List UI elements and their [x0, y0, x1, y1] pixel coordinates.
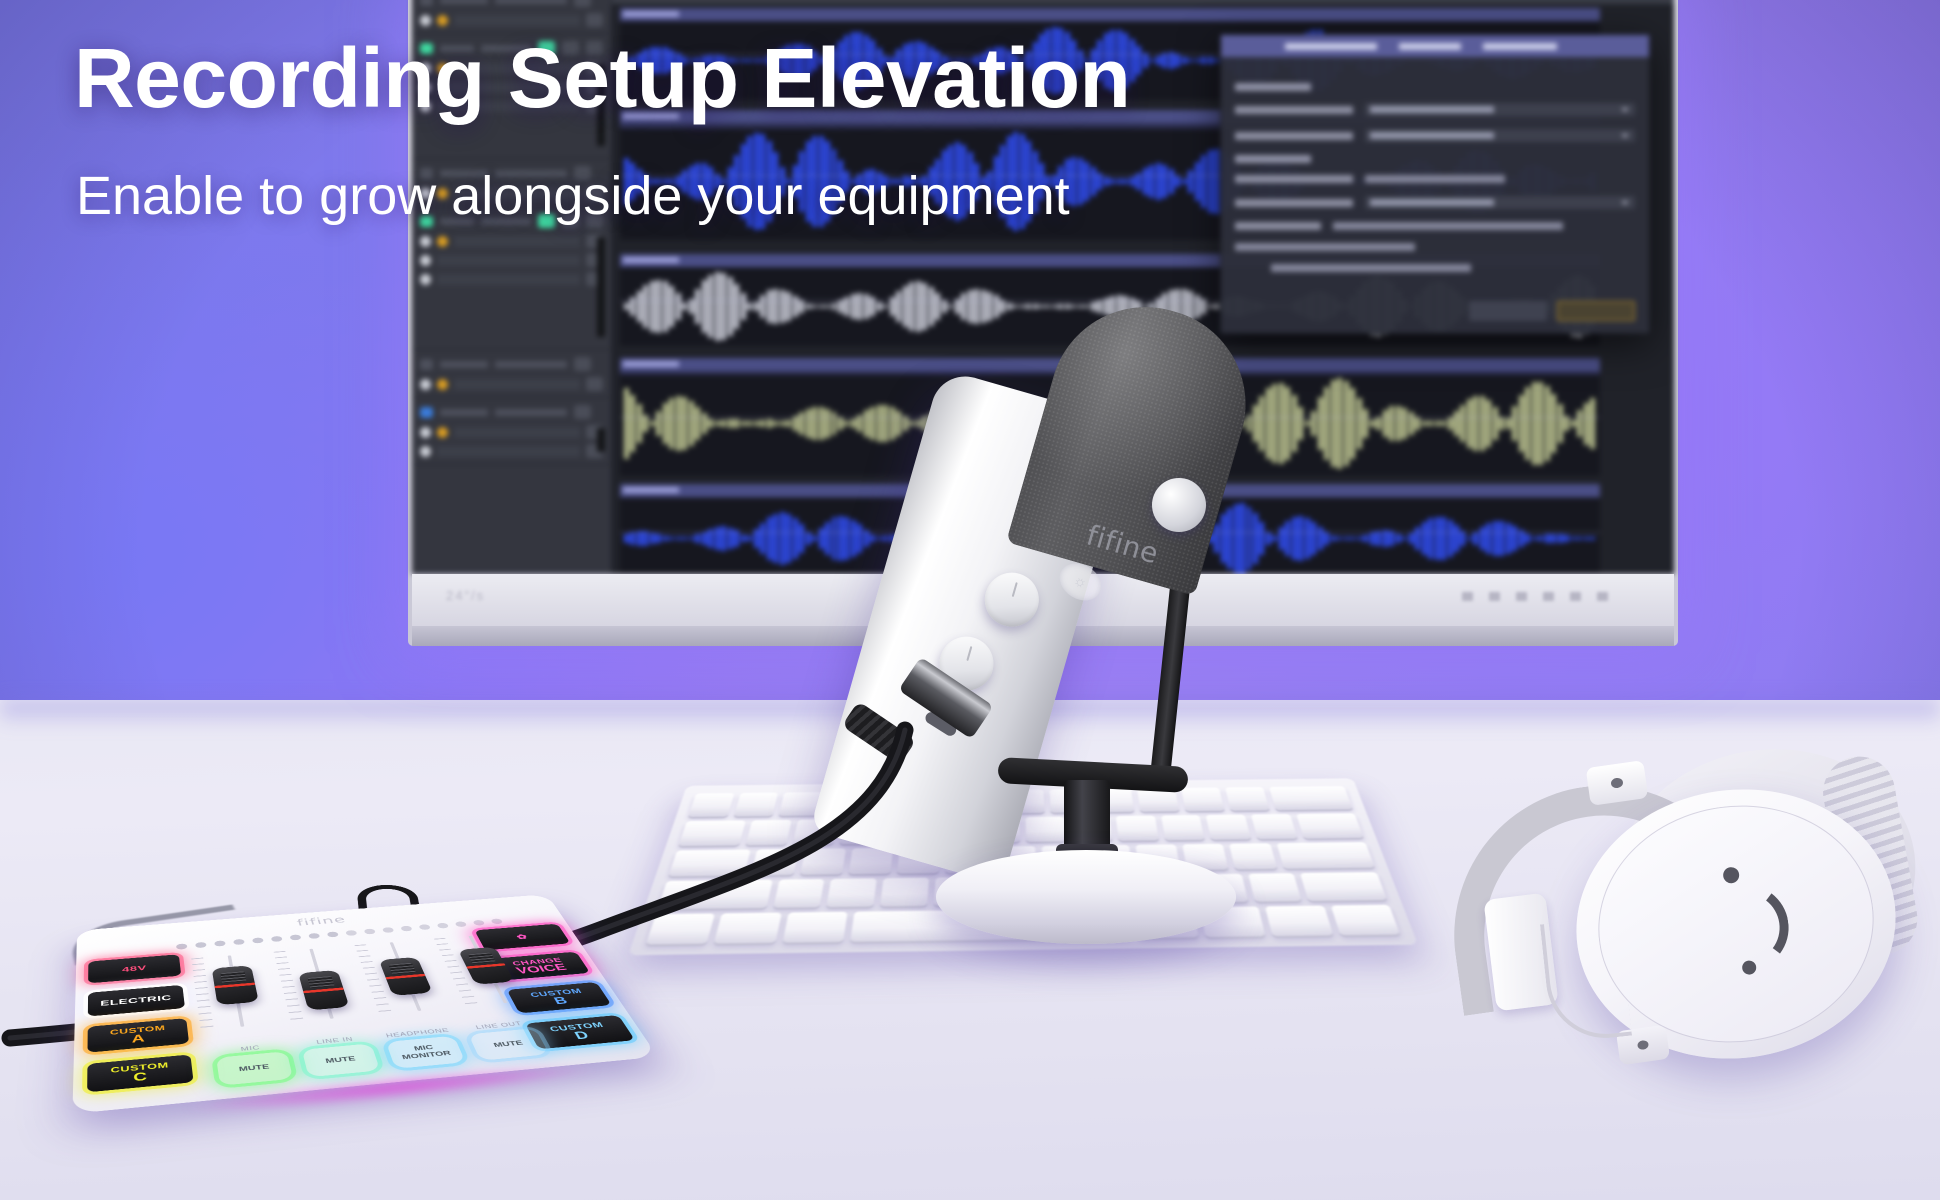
- keyboard-key[interactable]: [751, 849, 799, 876]
- dialog-checkbox-unaligned-clip[interactable]: [1235, 264, 1635, 272]
- headphone-hinge-top: [1586, 760, 1649, 806]
- dialog-checkbox-ref-clip[interactable]: [1235, 243, 1635, 251]
- keyboard-key[interactable]: [800, 848, 846, 875]
- keyboard-key[interactable]: [734, 792, 779, 816]
- mixer-led: [490, 918, 503, 924]
- monitor-model-label: 24"/s: [446, 588, 485, 603]
- mixer-led: [195, 942, 207, 948]
- keyboard-key[interactable]: [668, 849, 751, 876]
- microphone-assembly: ☼ fifine: [880, 310, 1300, 950]
- mixer-pad-mic-monitor[interactable]: MICMONITOR: [386, 1036, 466, 1069]
- mixer-left-custom-a-button[interactable]: CUSTOMA: [88, 1018, 190, 1053]
- dialog-footer: [1469, 301, 1635, 321]
- mixer-led: [345, 930, 357, 936]
- page-title: Recording Setup Elevation: [74, 36, 1374, 122]
- keyboard-key[interactable]: [1330, 905, 1400, 935]
- keyboard-key[interactable]: [773, 879, 825, 908]
- mixer-brand-logo: fifine: [296, 915, 348, 929]
- mixer-button-label: ✿: [515, 933, 530, 941]
- mixer-led: [308, 933, 320, 939]
- mic-gain-knob[interactable]: [978, 566, 1045, 633]
- mixer-button-label: C: [133, 1071, 147, 1084]
- fader-cap[interactable]: [379, 957, 433, 996]
- mixer-pad-mute[interactable]: MUTE: [302, 1043, 380, 1077]
- mixer-led: [400, 926, 413, 932]
- keyboard-key[interactable]: [746, 820, 792, 845]
- mixer-channel-headphone: HEADPHONEMICMONITOR: [383, 1027, 466, 1069]
- mixer-led: [233, 939, 245, 945]
- mixer-led: [364, 928, 376, 934]
- keyboard-key[interactable]: [688, 793, 734, 817]
- page-subtitle: Enable to grow alongside your equipment: [76, 168, 1376, 225]
- headphones: [1430, 740, 1940, 1160]
- daw-track-1[interactable]: [412, 0, 611, 34]
- mixer-led: [454, 921, 467, 927]
- mixer-fader-bank: [205, 934, 531, 1029]
- mixer-button-label: A: [131, 1033, 145, 1044]
- keyboard-key[interactable]: [679, 820, 746, 846]
- dialog-field-reference-channel[interactable]: [1235, 129, 1635, 142]
- keyboard-key[interactable]: [646, 914, 716, 945]
- mic-yoke-pivot-knob[interactable]: [1152, 478, 1206, 532]
- mixer-left-custom-c-button[interactable]: CUSTOMC: [87, 1054, 193, 1092]
- mixer-button-label: 48V: [122, 964, 147, 974]
- fader-scale: [274, 951, 304, 1022]
- promo-image-root: 24"/s ☼ fifine: [0, 0, 1940, 1200]
- fader-cap[interactable]: [298, 970, 349, 1010]
- mixer-led: [289, 934, 301, 940]
- wink-face-icon-arc: [1731, 879, 1794, 971]
- keyboard-key[interactable]: [714, 913, 782, 944]
- dialog-cancel-button[interactable]: [1469, 301, 1547, 321]
- dialog-section-unaligned: [1235, 155, 1311, 163]
- fader-scale: [191, 958, 214, 1031]
- keyboard-key[interactable]: [782, 912, 848, 943]
- mixer-button-label: ELECTRIC: [100, 993, 172, 1007]
- keyboard-key[interactable]: [657, 880, 772, 909]
- mixer-led: [418, 924, 431, 930]
- mixer-led: [327, 931, 339, 937]
- keyboard-key[interactable]: [827, 879, 878, 908]
- mixer-led: [436, 923, 449, 929]
- mixer-pad-mute[interactable]: MUTE: [216, 1051, 293, 1086]
- dialog-ok-button[interactable]: [1557, 301, 1635, 321]
- daw-track-6[interactable]: [412, 398, 611, 465]
- mixer-left-electric-button[interactable]: ELECTRIC: [88, 985, 185, 1017]
- mixer-button-label: D: [573, 1030, 591, 1041]
- mixer-led: [382, 927, 395, 933]
- mixer-left-48v-button[interactable]: 48V: [88, 954, 181, 983]
- mixer-channel-line-in: LINE INMUTE: [300, 1035, 381, 1077]
- mixer-pad-mute[interactable]: MUTE: [468, 1028, 549, 1061]
- timeline-ruler: [612, 0, 1674, 4]
- wink-face-icon-eye: [1723, 866, 1741, 884]
- mixer-led: [472, 920, 485, 926]
- mixer-left-button-column: 48VELECTRICCUSTOMACUSTOMC: [87, 954, 193, 1092]
- mixer-fader-2[interactable]: [287, 947, 358, 1021]
- mixer-button-label: B: [552, 996, 569, 1006]
- mixer-fader-3[interactable]: [368, 940, 446, 1013]
- mic-stand-base: [936, 850, 1236, 944]
- mixer-led: [252, 937, 264, 943]
- brightness-icon: ☼: [1070, 571, 1091, 593]
- fader-cap[interactable]: [212, 965, 259, 1005]
- daw-track-5[interactable]: [412, 350, 611, 398]
- mixer-channel-mic: MICMUTE: [215, 1042, 293, 1085]
- mixer-led: [271, 936, 283, 942]
- mixer-led: [176, 943, 188, 949]
- keyboard-key[interactable]: [1296, 813, 1364, 838]
- monitor-osd-buttons[interactable]: [1462, 592, 1608, 601]
- headphone-wire: [1540, 916, 1632, 1044]
- mixer-led: [214, 940, 226, 946]
- keyboard-key[interactable]: [1300, 872, 1387, 901]
- mixer-fader-1[interactable]: [205, 953, 269, 1029]
- daw-track-4[interactable]: [412, 207, 611, 350]
